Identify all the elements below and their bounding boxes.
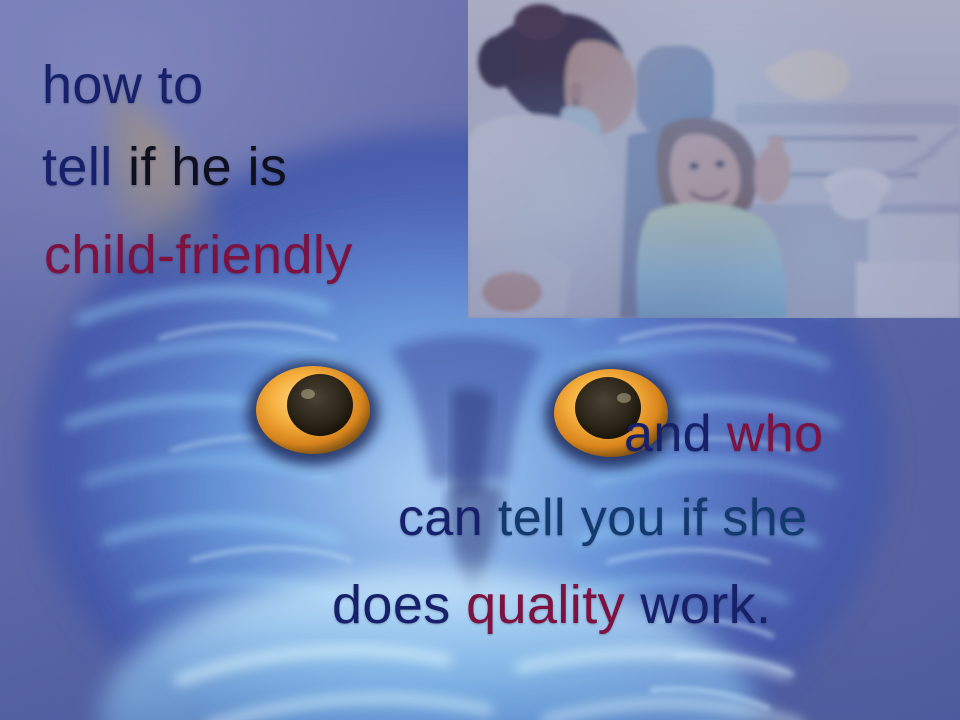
subline-line-3-prefix: does (332, 575, 466, 635)
slide-canvas: how to tell if he is child-friendly and … (0, 0, 960, 720)
subline-line-1-emphasis: who (727, 405, 824, 463)
subline-line-3: does quality work. (332, 578, 771, 632)
headline-line-2-emphasis: tell (42, 137, 113, 197)
headline-line-1-text: how to (42, 55, 204, 115)
subline-line-1: and who (624, 408, 823, 460)
subline-line-3-emphasis: quality (466, 575, 625, 635)
dental-office-photo (468, 0, 960, 318)
headline-line-3: child-friendly (44, 228, 353, 282)
headline-line-2: tell if he is (42, 140, 287, 194)
photo-dark-tint (468, 0, 960, 318)
subline-line-3-suffix: work. (625, 575, 771, 635)
headline-line-2-text: if he is (113, 137, 288, 197)
headline-line-3-text: child-friendly (44, 225, 353, 285)
headline-line-1: how to (42, 58, 204, 112)
subline-line-2: can tell you if she (398, 492, 807, 544)
subline-line-1-text: and (624, 405, 727, 463)
subline-line-2-emphasis: tell you if she (498, 489, 808, 547)
subline-line-2-text: can (398, 489, 498, 547)
